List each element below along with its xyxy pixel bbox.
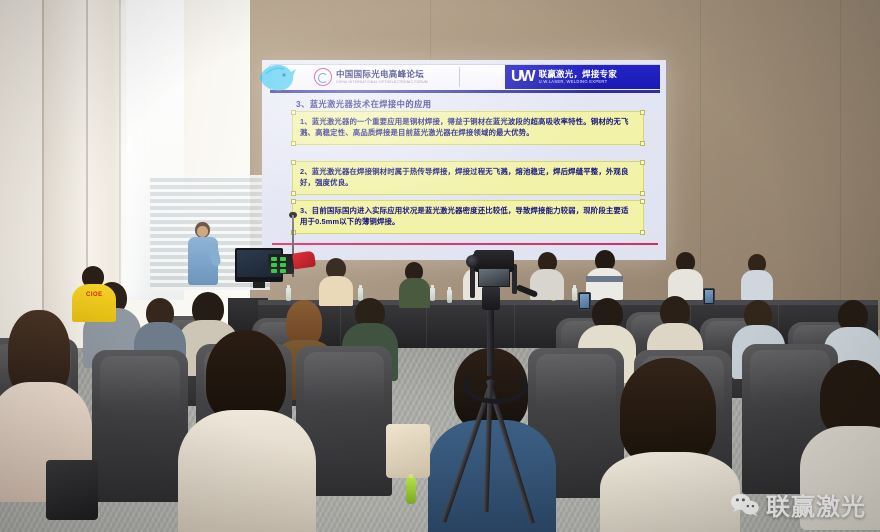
chair: [92, 350, 188, 502]
conference-photo: 中国国际光电高峰论坛 CHINA INTERNATIONAL OPTOELECT…: [0, 0, 880, 532]
projector-glare: [262, 60, 666, 260]
red-handheld-device: [292, 251, 316, 270]
projected-slide: 中国国际光电高峰论坛 CHINA INTERNATIONAL OPTOELECT…: [262, 60, 666, 260]
watermark-text: 联赢激光: [766, 487, 866, 522]
green-bottle: [406, 478, 416, 504]
water-bottle: [572, 288, 577, 301]
tote-bag: [386, 424, 430, 478]
water-bottle: [286, 288, 291, 301]
watermark: 联赢激光: [730, 487, 866, 522]
camera-lens-icon: [466, 255, 479, 268]
staff-badge: CIOE: [86, 292, 103, 298]
smartphone: [578, 292, 591, 310]
wall-seam: [700, 0, 701, 300]
camera-screen: [478, 268, 510, 287]
wall-seam: [430, 0, 431, 60]
smartphone: [703, 288, 715, 305]
green-indicator-device: [268, 254, 294, 274]
handbag: [46, 460, 98, 520]
presenter: [186, 222, 220, 292]
wechat-icon: [730, 492, 760, 518]
camera-tripod: [430, 250, 540, 532]
wall-seam: [840, 0, 841, 300]
